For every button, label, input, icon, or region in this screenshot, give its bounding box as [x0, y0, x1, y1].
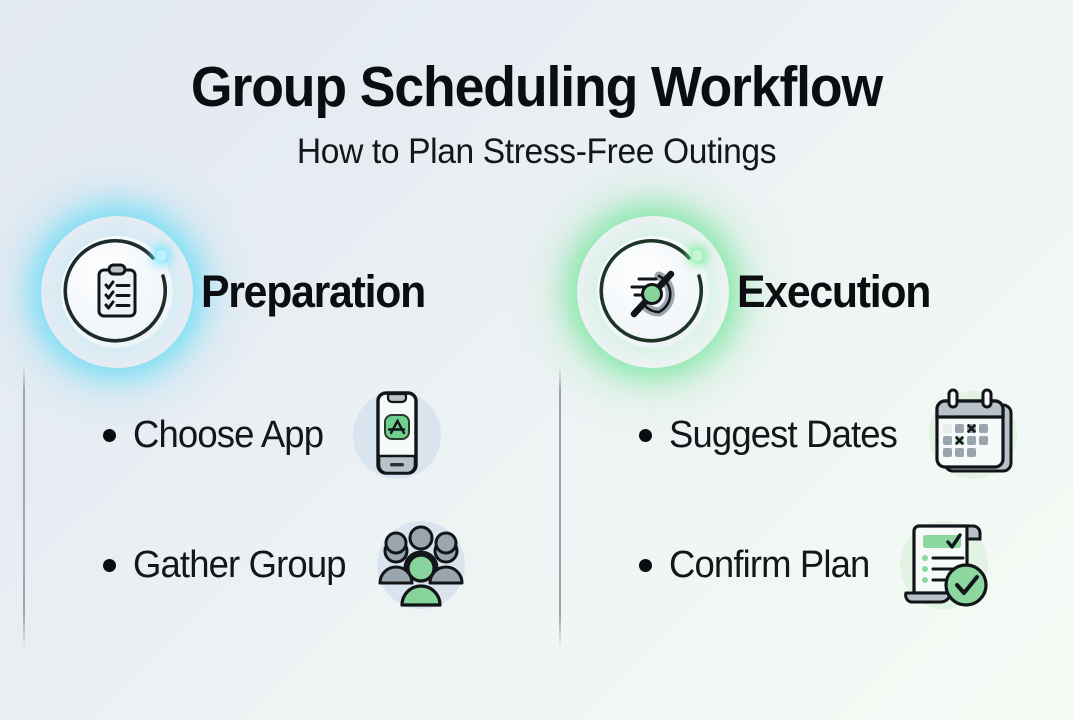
- bullet-icon: [639, 429, 652, 442]
- bullet-icon: [103, 429, 116, 442]
- column-preparation: Preparation Choose App: [0, 218, 536, 630]
- section-header-execution: Execution: [591, 218, 1072, 366]
- page-title: Group Scheduling Workflow: [32, 58, 1041, 116]
- preparation-item-list: Choose App: [55, 370, 536, 630]
- section-title-execution: Execution: [737, 266, 930, 318]
- list-item-label: Choose App: [133, 414, 323, 457]
- column-execution: Execution Suggest Dates: [536, 218, 1072, 630]
- execution-icon-badge: [591, 230, 715, 354]
- section-header-preparation: Preparation: [55, 218, 536, 366]
- document-check-icon: [892, 513, 996, 617]
- clipboard-checklist-icon: [55, 230, 179, 354]
- bullet-icon: [639, 559, 652, 572]
- preparation-icon-badge: [55, 230, 179, 354]
- group-people-icon: [369, 513, 473, 617]
- infographic-header: Group Scheduling Workflow How to Plan St…: [0, 0, 1073, 172]
- list-item: Gather Group: [55, 500, 536, 630]
- list-item: Confirm Plan: [591, 500, 1072, 630]
- list-item-label: Gather Group: [133, 544, 346, 587]
- page-subtitle: How to Plan Stress-Free Outings: [21, 132, 1051, 172]
- list-item-label: Confirm Plan: [669, 544, 869, 587]
- list-item: Choose App: [55, 370, 536, 500]
- column-divider-right: [559, 366, 561, 648]
- bullet-icon: [103, 559, 116, 572]
- workflow-columns: Preparation Choose App: [0, 218, 1073, 630]
- list-item-label: Suggest Dates: [669, 414, 897, 457]
- column-divider-left: [23, 366, 25, 648]
- speedometer-icon: [591, 230, 715, 354]
- execution-item-list: Suggest Dates: [591, 370, 1072, 630]
- list-item: Suggest Dates: [591, 370, 1072, 500]
- calendar-dates-icon: [921, 383, 1025, 487]
- section-title-preparation: Preparation: [201, 266, 425, 318]
- smartphone-app-icon: [345, 383, 449, 487]
